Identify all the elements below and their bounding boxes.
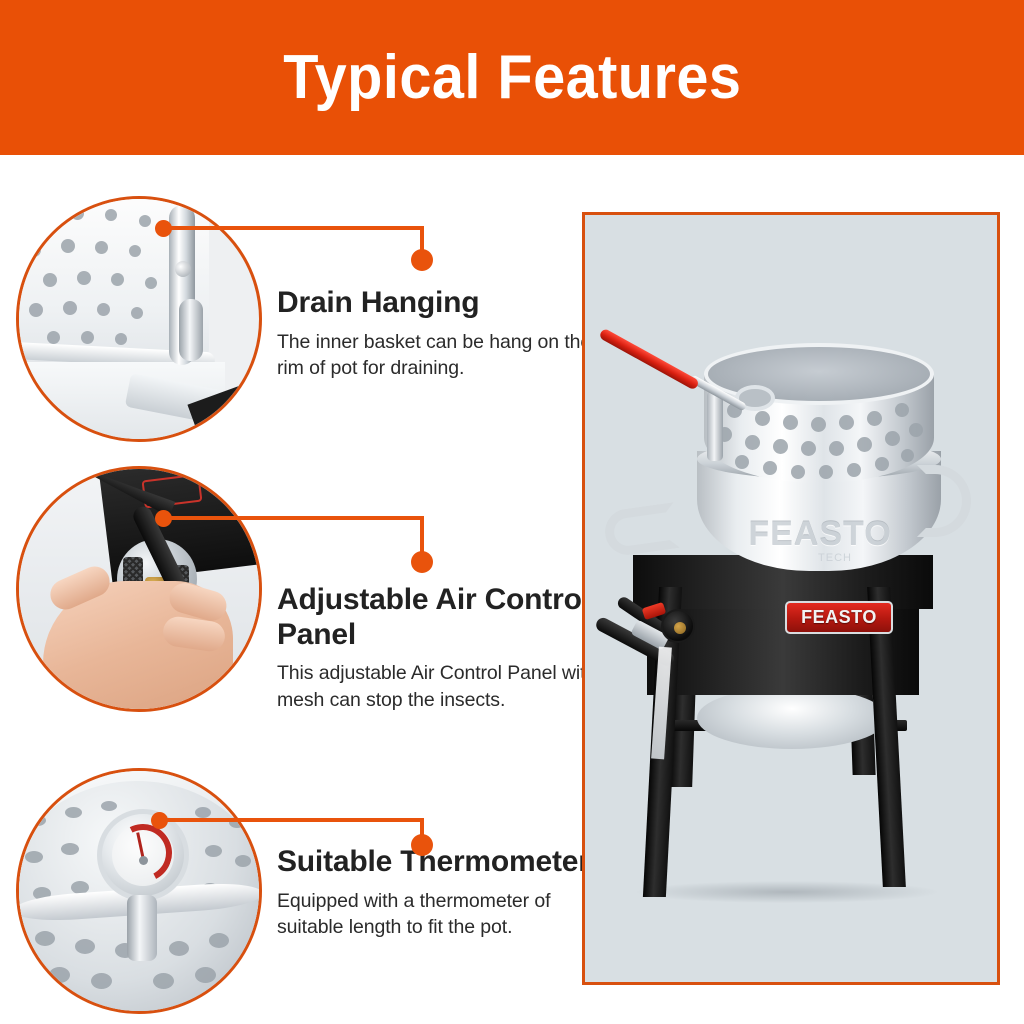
infographic-page: Typical Features	[0, 0, 1024, 1024]
feature-text-2: Adjustable Air Control Panel This adjust…	[277, 583, 607, 714]
pot-handle-right	[917, 465, 971, 537]
basket-handle-red-grip	[598, 328, 700, 391]
callout-line-horizontal-1	[163, 226, 424, 230]
stand-brand-badge-text: FEASTO	[801, 607, 877, 628]
burner-control-knob	[661, 609, 695, 643]
pot-brand-emboss: FEASTO	[735, 515, 905, 554]
stand-brand-badge: FEASTO	[785, 601, 893, 634]
feature-photo-circle-1	[16, 196, 262, 442]
callout-anchor-dot-3	[151, 812, 168, 829]
basket-hanging-clip	[707, 391, 723, 461]
product-photo: FEASTO TECH	[585, 215, 997, 982]
callout-anchor-dot-2	[155, 510, 172, 527]
feature-title-2: Adjustable Air Control Panel	[277, 583, 607, 652]
dial-thermometer	[97, 809, 189, 901]
header-banner: Typical Features	[0, 0, 1024, 155]
callout-terminal-dot-2	[411, 551, 433, 573]
callout-anchor-dot-1	[155, 220, 172, 237]
air-control-panel-photo	[19, 469, 259, 709]
feature-photo-circle-2	[16, 466, 262, 712]
callout-terminal-dot-3	[411, 834, 433, 856]
feature-photo-circle-3	[16, 768, 262, 1014]
thermometer-clip	[127, 895, 157, 961]
burner-heat-shield	[697, 687, 887, 749]
feature-description-1: The inner basket can be hang on the rim …	[277, 329, 607, 383]
pot-handle-left	[602, 502, 680, 558]
callout-line-horizontal-3	[159, 818, 424, 822]
product-photo-panel: FEASTO TECH	[582, 212, 1000, 985]
thermometer-hub	[139, 856, 148, 865]
feature-description-2: This adjustable Air Control Panel with m…	[277, 660, 607, 714]
thermometer-photo	[19, 771, 259, 1011]
pot-brand-emboss-sub: TECH	[790, 552, 880, 564]
feature-description-3: Equipped with a thermometer of suitable …	[277, 888, 607, 942]
callout-line-horizontal-2	[163, 516, 424, 520]
hanging-clip-hook	[179, 299, 203, 361]
feature-text-1: Drain Hanging The inner basket can be ha…	[277, 286, 607, 382]
feature-text-3: Suitable Thermometer Equipped with a the…	[277, 845, 607, 941]
basket-hanging-clip-photo	[19, 199, 259, 439]
callout-terminal-dot-1	[411, 249, 433, 271]
page-title: Typical Features	[283, 47, 741, 109]
clip-rivet	[175, 261, 191, 277]
feature-title-3: Suitable Thermometer	[277, 845, 607, 880]
feature-title-1: Drain Hanging	[277, 286, 607, 321]
